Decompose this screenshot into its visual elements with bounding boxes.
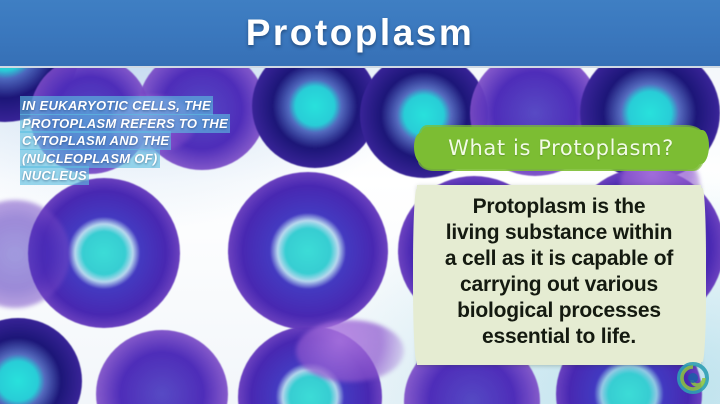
caption-line: PROTOPLASM REFERS TO THE <box>22 116 322 132</box>
caption-line: NUCLEUS <box>22 168 322 184</box>
spiral-logo-icon <box>676 361 710 395</box>
caption-line: CYTOPLASM AND THE <box>22 133 322 149</box>
definition-text: Protoplasm is the living substance withi… <box>417 185 701 350</box>
page-title: Protoplasm <box>246 12 475 54</box>
caption-line-text: CYTOPLASM AND THE <box>22 133 169 148</box>
caption-line-text: PROTOPLASM REFERS TO THE <box>22 116 228 131</box>
cell <box>228 172 388 330</box>
definition-line: a cell as it is capable of <box>423 246 695 272</box>
caption-block: IN EUKARYOTIC CELLS, THE PROTOPLASM REFE… <box>22 98 322 186</box>
caption-line-text: (NUCLEOPLASM OF) <box>22 151 158 166</box>
cell <box>0 318 82 404</box>
question-banner: What is Protoplasm? <box>420 127 702 169</box>
definition-line: Protoplasm is the <box>423 194 695 220</box>
definition-line: carrying out various <box>423 272 695 298</box>
definition-card: Protoplasm is the living substance withi… <box>417 185 701 365</box>
slide-canvas: Protoplasm IN EUKARYOTIC CELLS, THE PROT… <box>0 0 720 404</box>
caption-line-text: IN EUKARYOTIC CELLS, THE <box>22 98 211 113</box>
definition-line: living substance within <box>423 220 695 246</box>
caption-line-text: NUCLEUS <box>22 168 87 183</box>
definition-line: essential to life. <box>423 324 695 350</box>
title-bar: Protoplasm <box>0 0 720 68</box>
question-banner-text: What is Protoplasm? <box>420 127 702 169</box>
cell <box>96 330 228 404</box>
caption-line: (NUCLEOPLASM OF) <box>22 151 322 167</box>
caption-line: IN EUKARYOTIC CELLS, THE <box>22 98 322 114</box>
definition-line: biological processes <box>423 298 695 324</box>
cell-membrane-blob <box>296 320 404 382</box>
